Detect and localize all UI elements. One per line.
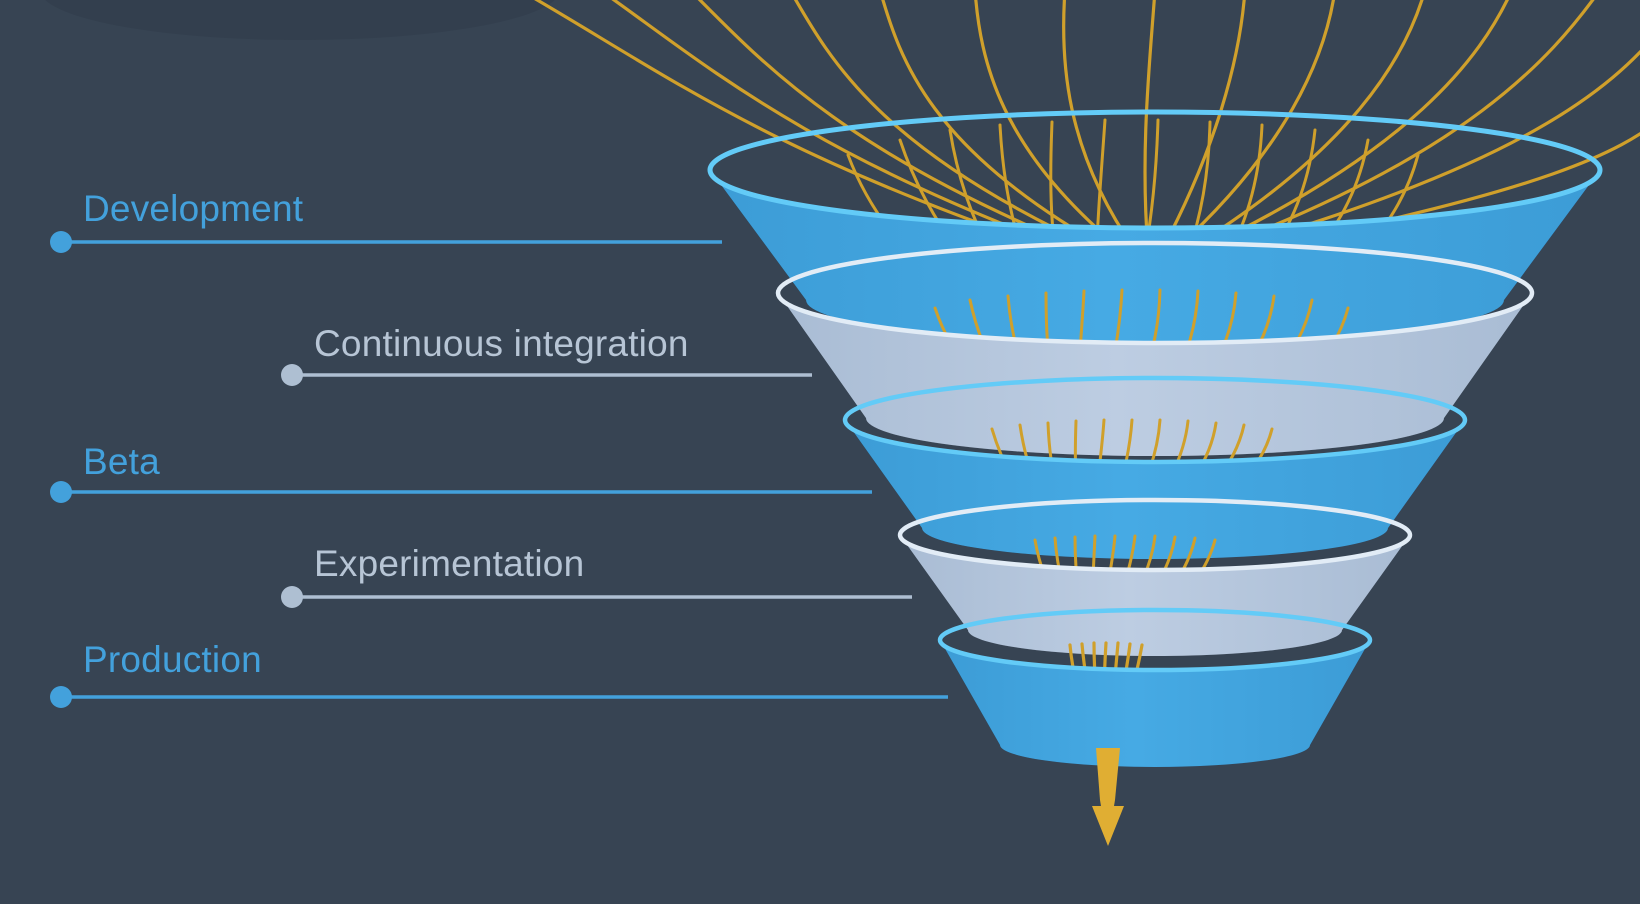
callout-leader-lines <box>0 0 1640 904</box>
callout-label-continuous-integration: Continuous integration <box>314 325 689 362</box>
callout-dot-continuous-integration <box>281 364 303 386</box>
callout-label-experimentation: Experimentation <box>314 545 584 582</box>
callout-line-continuous-integration <box>281 364 812 386</box>
callout-line-experimentation <box>281 586 912 608</box>
callout-dot-beta <box>50 481 72 503</box>
callout-dot-development <box>50 231 72 253</box>
callout-line-beta <box>50 481 872 503</box>
infographic-canvas: Development Continuous integration Beta … <box>0 0 1640 904</box>
callout-label-beta: Beta <box>83 443 160 480</box>
callout-label-development: Development <box>83 190 303 227</box>
callout-line-production <box>50 686 948 708</box>
callout-label-production: Production <box>83 641 262 678</box>
callout-line-development <box>50 231 722 253</box>
callout-dot-production <box>50 686 72 708</box>
callout-dot-experimentation <box>281 586 303 608</box>
